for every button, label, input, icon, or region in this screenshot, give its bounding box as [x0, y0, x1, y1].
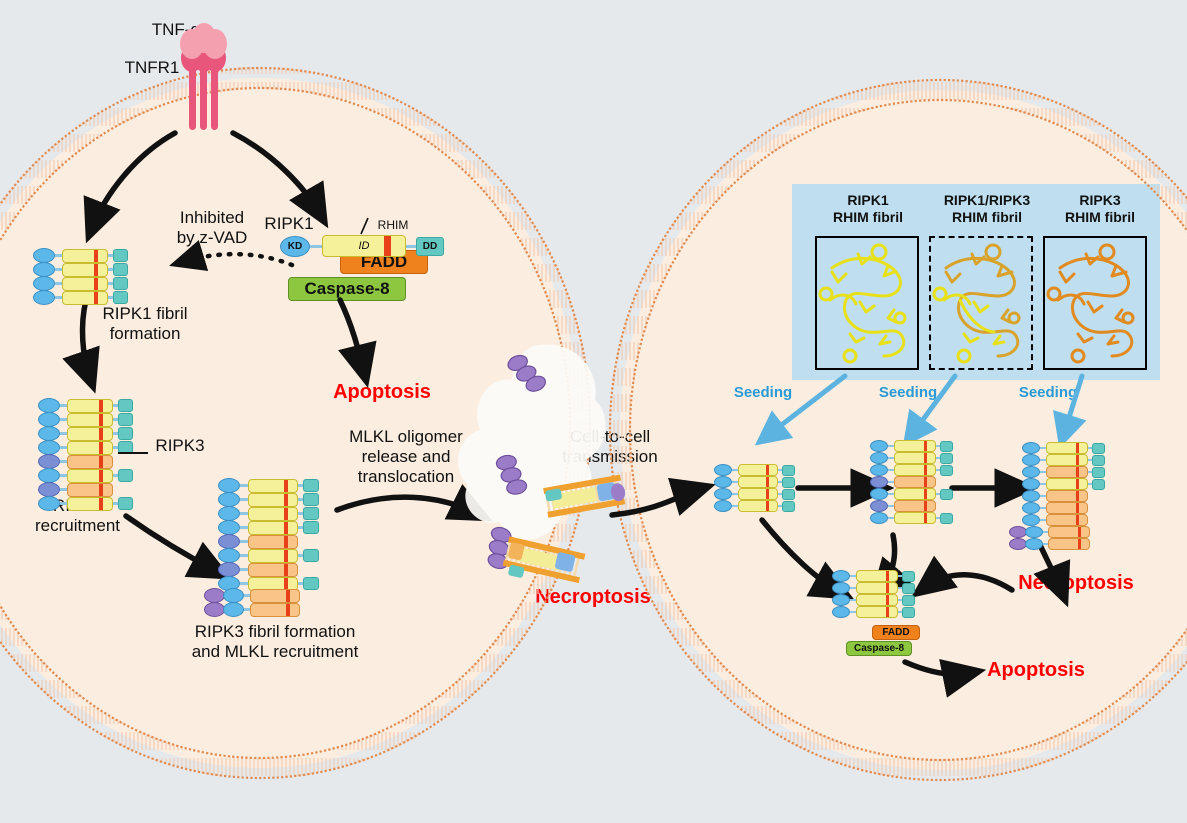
seeding-label-2: Seeding	[1008, 384, 1088, 401]
right-apoptosis-fibril-complex	[832, 570, 927, 626]
fadd-tag-right: FADD	[872, 625, 920, 640]
kd-id-linker	[310, 245, 322, 248]
rhim-fibril-box-ripk1-ripk3	[929, 236, 1033, 370]
inhibition-label: Inhibited by z-VAD	[152, 208, 272, 248]
id-dd-linker	[406, 245, 416, 248]
caspase8-tag-left: Caspase-8	[288, 277, 406, 301]
right-mixed-fibril-2	[870, 440, 965, 530]
apoptosis-label-left: Apoptosis	[318, 381, 446, 404]
seeding-label-1: Seeding	[868, 384, 948, 401]
figure-canvas: RIPK1 RHIM fibril RIPK1/RIPK3 RHIM fibri…	[0, 0, 1187, 823]
ripk3-subunit-row	[38, 454, 113, 469]
ripk3-fibril-mlkl-label: RIPK3 fibril formation and MLKL recruitm…	[150, 622, 400, 662]
mlkl-icon	[204, 588, 225, 603]
ripk1-fibril-formation-label: RIPK1 fibril formation	[75, 304, 215, 344]
dd-domain-icon: DD	[416, 237, 444, 256]
rhim-fibril-box-ripk3	[1043, 236, 1147, 370]
right-ripk3-mlkl-fibril-3	[1022, 442, 1122, 550]
mlkl-icon	[204, 602, 225, 617]
mlkl-subunit-row	[204, 588, 300, 603]
tnf-alpha-label: TNF-α	[133, 20, 219, 40]
ripk1-monomer-diagram: KD ID DD	[280, 232, 455, 262]
inset-title-2: RIPK3 RHIM fibril	[1050, 192, 1150, 226]
ripk3-leader-line	[118, 448, 152, 458]
apoptosis-label-right: Apoptosis	[972, 659, 1100, 682]
caspase8-tag-right: Caspase-8	[846, 641, 912, 656]
necroptosis-label-right: Necroptosis	[1000, 572, 1152, 595]
inset-title-0: RIPK1 RHIM fibril	[812, 192, 924, 226]
ripk1-fibril-assembly	[33, 248, 137, 306]
right-ripk1-fibril-1	[714, 464, 804, 514]
rhim-fibril-box-ripk1	[815, 236, 919, 370]
ripk3-mlkl-fibril-assembly	[218, 478, 338, 618]
ripk3-label: RIPK3	[145, 436, 215, 456]
mlkl-release-label: MLKL oligomer release and translocation	[326, 427, 486, 487]
necroptosis-label-left: Necroptosis	[517, 586, 669, 609]
cell-to-cell-transmission-label: Cell-to-cell transmission	[535, 427, 685, 467]
seeding-label-0: Seeding	[723, 384, 803, 401]
inset-title-1: RIPK1/RIPK3 RHIM fibril	[928, 192, 1046, 226]
kd-domain-icon: KD	[280, 236, 310, 257]
tnfr1-label: TNFR1	[113, 58, 191, 78]
